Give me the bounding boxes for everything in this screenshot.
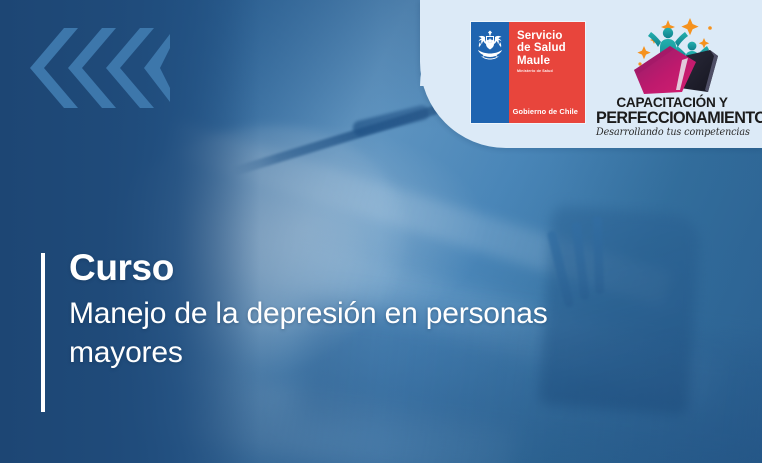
ssm-logo-title: Servicio de Salud Maule	[517, 30, 566, 67]
cap-title-line-1: CAPACITACIÓN Y	[616, 95, 727, 110]
flag-red-block: Servicio de Salud Maule Ministerio de Sa…	[509, 22, 585, 123]
course-title: Manejo de la depresión en personas mayor…	[69, 294, 629, 372]
course-label: Curso	[69, 246, 659, 290]
flag-blue-block	[471, 22, 509, 123]
ssm-title-line-1: Servicio	[517, 30, 566, 42]
ssm-logo-footer: Gobierno de Chile	[513, 107, 578, 116]
open-book-with-figures-icon	[610, 16, 734, 94]
ssm-title-line-3: Maule	[517, 55, 566, 67]
course-banner: Servicio de Salud Maule Ministerio de Sa…	[0, 0, 762, 463]
servicio-de-salud-maule-logo: Servicio de Salud Maule Ministerio de Sa…	[471, 22, 585, 123]
title-block: Curso Manejo de la depresión en personas…	[69, 246, 659, 372]
ssm-title-line-2: de Salud	[517, 42, 566, 54]
cap-logo-title: CAPACITACIÓN Y PERFECCIONAMIENTO	[596, 96, 748, 125]
chile-coat-of-arms-icon	[474, 30, 506, 60]
title-accent-bar	[41, 253, 45, 412]
capacitacion-y-perfeccionamiento-logo: CAPACITACIÓN Y PERFECCIONAMIENTO Desarro…	[596, 16, 748, 134]
ssm-logo-subtitle: Ministerio de Salud	[517, 69, 553, 74]
cap-title-line-2: PERFECCIONAMIENTO	[596, 111, 748, 126]
cap-logo-tagline: Desarrollando tus competencias	[596, 127, 748, 139]
double-chevron-left-icon	[30, 28, 170, 108]
